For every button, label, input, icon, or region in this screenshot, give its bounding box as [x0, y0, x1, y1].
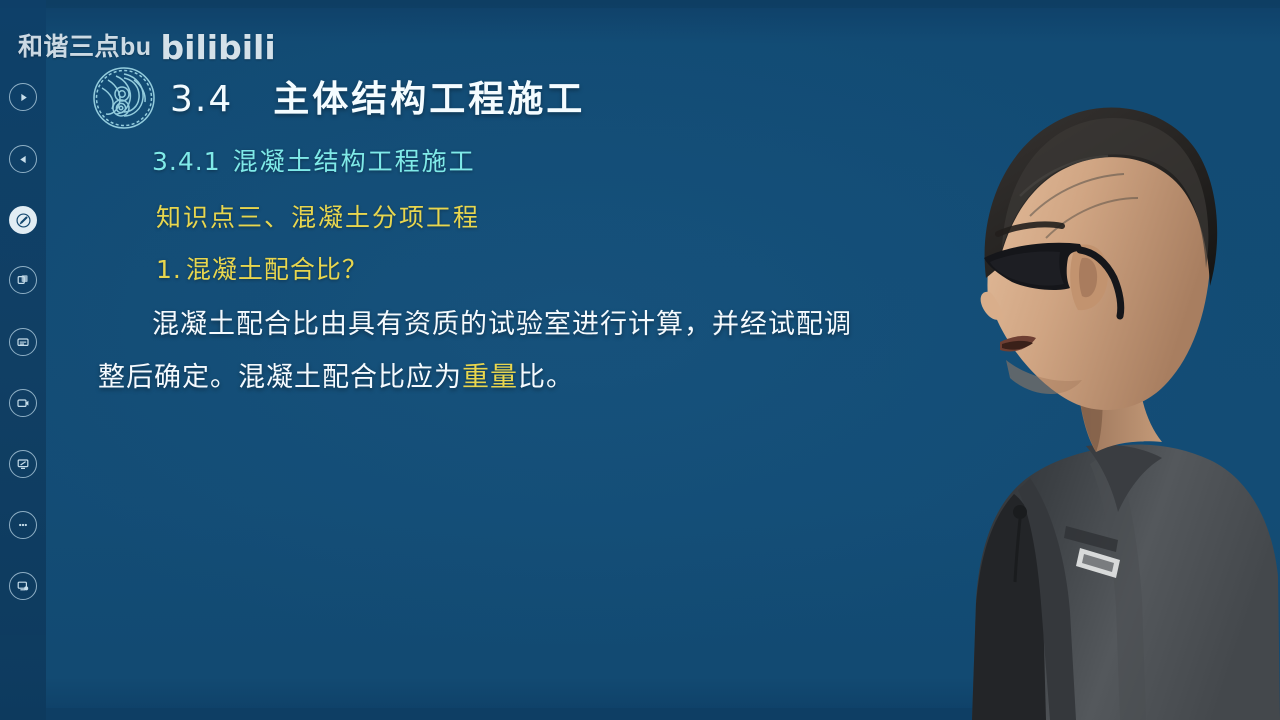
body-line-2-highlight: 重量 [462, 362, 518, 392]
slide-subtitle-text: 混凝土结构工程施工 [233, 148, 476, 176]
uploader-watermark: 和谐三点bu bilibili [18, 27, 276, 63]
left-toolbar [0, 0, 46, 720]
screen-share-icon[interactable] [9, 450, 37, 478]
previous-play-icon[interactable] [9, 145, 37, 173]
spiral-nautilus-emblem [90, 64, 158, 132]
subtitle-icon[interactable] [9, 328, 37, 356]
video-player-frame: 和谐三点bu bilibili 3.4 主体结构工程施工 3.4.1混凝土结构工… [0, 0, 1280, 720]
question-text: 混凝土配合比？ [186, 256, 368, 284]
screenshot-icon[interactable] [9, 572, 37, 600]
slide-title-text: 主体结构工程施工 [273, 70, 585, 122]
slide-subtitle: 3.4.1混凝土结构工程施工 [152, 142, 476, 178]
presenter-figure [880, 0, 1280, 720]
body-line-2-tail: 比。 [518, 362, 574, 392]
slide-title: 3.4 主体结构工程施工 [170, 70, 585, 122]
more-options-icon[interactable] [9, 511, 37, 539]
copy-clipboard-icon[interactable] [9, 266, 37, 294]
question-number: 1. [156, 255, 182, 284]
knowledge-point-heading: 知识点三、混凝土分项工程 [156, 198, 480, 234]
body-line-2-lead: 整后确定。混凝土配合比应为 [98, 362, 462, 392]
bilibili-logo: bilibili [161, 32, 276, 63]
slide-subtitle-number: 3.4.1 [152, 147, 221, 176]
pen-annotate-icon[interactable] [9, 206, 37, 234]
body-paragraph-line-2: 整后确定。混凝土配合比应为重量比。 [98, 355, 574, 394]
slide-title-number: 3.4 [170, 79, 233, 120]
video-window-icon[interactable] [9, 389, 37, 417]
body-paragraph-line-1: 混凝土配合比由具有资质的试验室进行计算，并经试配调 [152, 302, 852, 341]
next-play-icon[interactable] [9, 83, 37, 111]
question-heading: 1.混凝土配合比？ [156, 250, 368, 286]
watermark-uploader-name: 和谐三点bu [18, 27, 152, 63]
